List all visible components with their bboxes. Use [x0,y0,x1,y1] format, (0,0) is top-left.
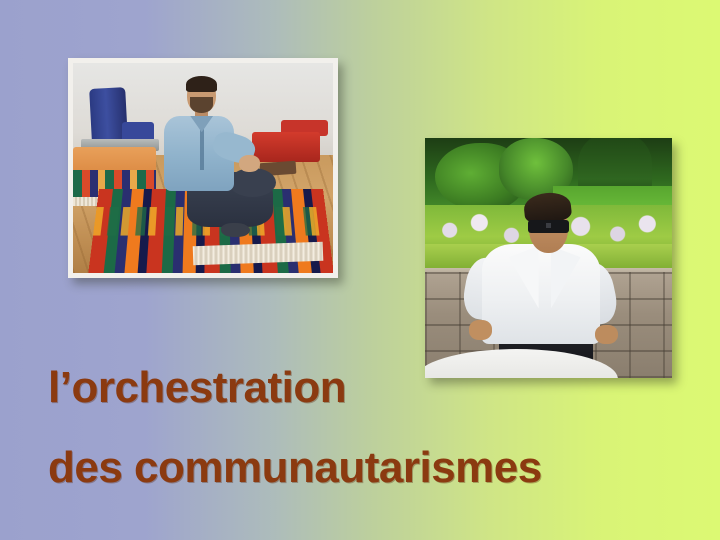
seated-man-hair [186,76,217,93]
photo-man-on-rug-image [73,63,333,273]
seated-man-knee [229,168,276,197]
photo-man-on-rug [68,58,338,278]
garden-man-right-hand [595,325,617,344]
garden-man-left-hand [469,320,491,339]
garden-man-white-shirt [482,244,601,345]
orange-cushion [73,147,156,172]
presentation-slide: l’orchestration des communautarismes [0,0,720,540]
seated-man-hand [239,155,260,172]
caption-line-1: l’orchestration [48,348,668,428]
kilim-rug-fringe [192,241,323,264]
slide-caption: l’orchestration des communautarismes [48,348,668,508]
red-textile-pile [252,132,320,161]
photo-man-in-garden-image [425,138,672,378]
seated-man-foot [221,223,250,238]
caption-line-2: des communautarismes [48,428,668,508]
sunglasses-icon [528,220,570,233]
photo-man-in-garden [425,138,672,378]
